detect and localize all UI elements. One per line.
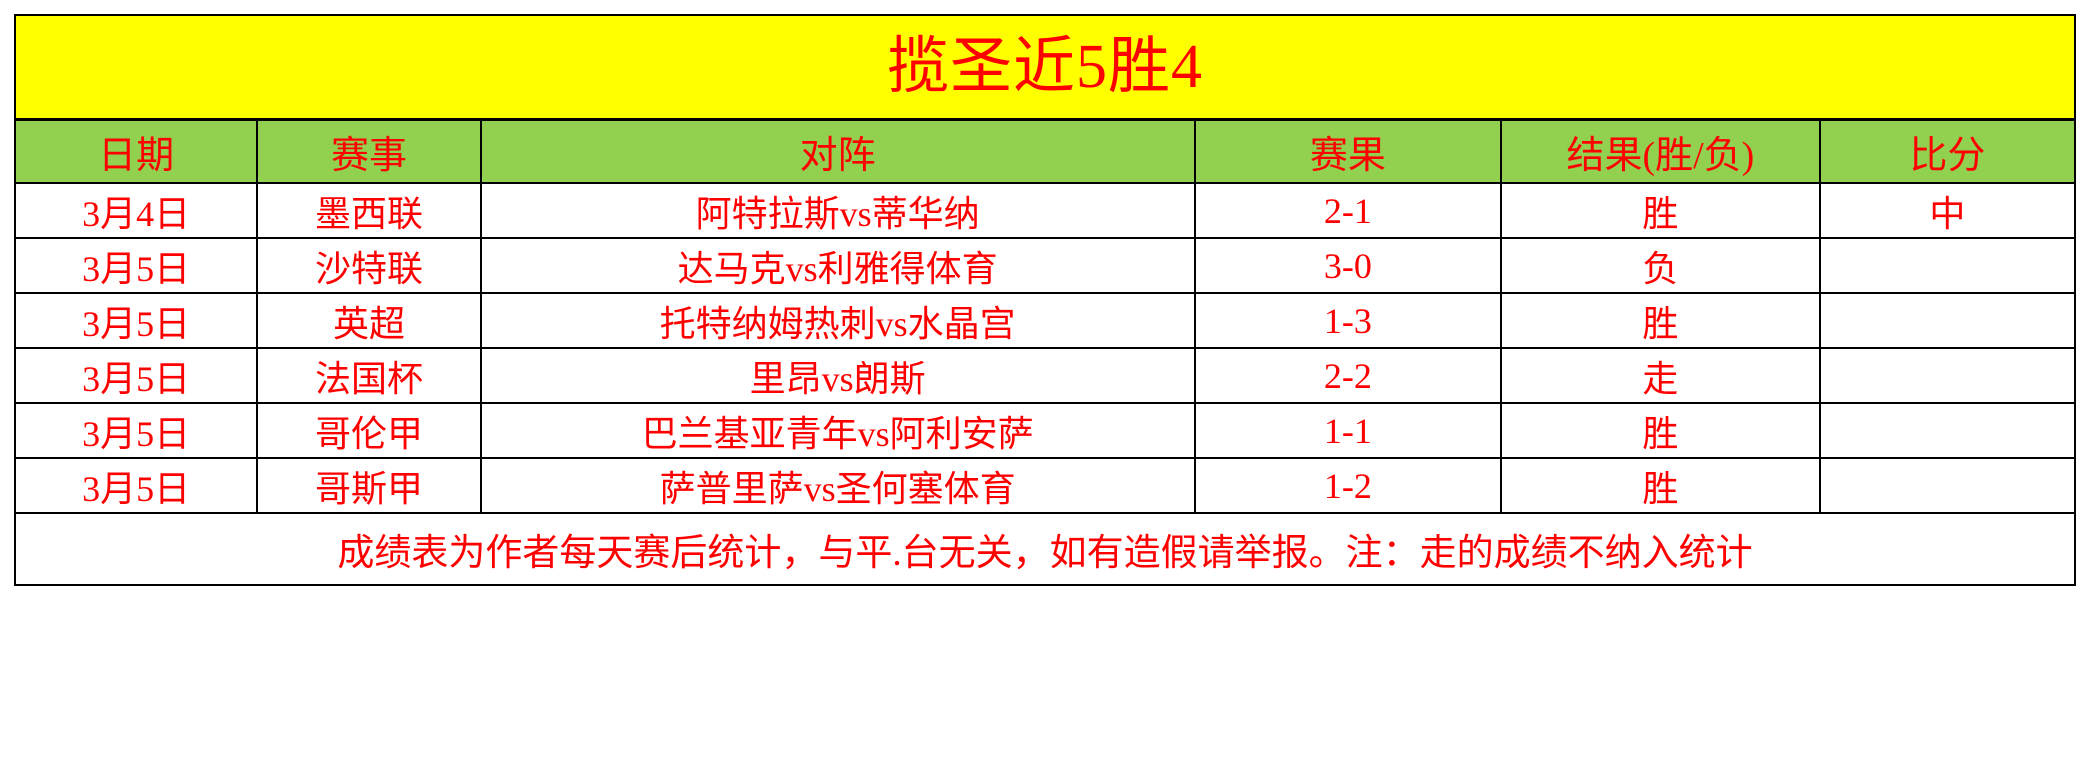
page-title: 揽圣近5胜4 <box>15 15 2075 119</box>
table-row: 3月5日 哥伦甲 巴兰基亚青年vs阿利安萨 1-1 胜 <box>15 403 2075 458</box>
cell-date: 3月4日 <box>15 183 257 238</box>
cell-match: 托特纳姆热刺vs水晶宫 <box>481 293 1195 348</box>
cell-score: 1-2 <box>1195 458 1501 513</box>
cell-match: 阿特拉斯vs蒂华纳 <box>481 183 1195 238</box>
cell-date: 3月5日 <box>15 348 257 403</box>
column-header-row: 日期 赛事 对阵 赛果 结果(胜/负) 比分 <box>15 119 2075 183</box>
cell-league: 法国杯 <box>257 348 480 403</box>
footer-note: 成绩表为作者每天赛后统计，与平.台无关，如有造假请举报。注：走的成绩不纳入统计 <box>15 513 2075 585</box>
status-badge-result: 胜 <box>1501 293 1820 348</box>
cell-handicap <box>1820 293 2075 348</box>
column-header-result: 结果(胜/负) <box>1501 119 1820 183</box>
cell-score: 1-3 <box>1195 293 1501 348</box>
status-badge-result: 胜 <box>1501 403 1820 458</box>
cell-score: 3-0 <box>1195 238 1501 293</box>
cell-match: 里昂vs朗斯 <box>481 348 1195 403</box>
cell-handicap <box>1820 238 2075 293</box>
cell-handicap <box>1820 458 2075 513</box>
cell-handicap <box>1820 348 2075 403</box>
cell-league: 英超 <box>257 293 480 348</box>
status-badge-result: 胜 <box>1501 183 1820 238</box>
cell-league: 沙特联 <box>257 238 480 293</box>
cell-date: 3月5日 <box>15 403 257 458</box>
table-body: 揽圣近5胜4 日期 赛事 对阵 赛果 结果(胜/负) 比分 3月4日 墨西联 阿… <box>15 15 2075 585</box>
cell-date: 3月5日 <box>15 293 257 348</box>
cell-date: 3月5日 <box>15 238 257 293</box>
footer-note-row: 成绩表为作者每天赛后统计，与平.台无关，如有造假请举报。注：走的成绩不纳入统计 <box>15 513 2075 585</box>
status-badge-result: 走 <box>1501 348 1820 403</box>
table-row: 3月5日 法国杯 里昂vs朗斯 2-2 走 <box>15 348 2075 403</box>
cell-handicap <box>1820 403 2075 458</box>
table-row: 3月4日 墨西联 阿特拉斯vs蒂华纳 2-1 胜 中 <box>15 183 2075 238</box>
cell-league: 墨西联 <box>257 183 480 238</box>
cell-date: 3月5日 <box>15 458 257 513</box>
title-banner-row: 揽圣近5胜4 <box>15 15 2075 119</box>
column-header-league: 赛事 <box>257 119 480 183</box>
table-row: 3月5日 哥斯甲 萨普里萨vs圣何塞体育 1-2 胜 <box>15 458 2075 513</box>
cell-handicap: 中 <box>1820 183 2075 238</box>
cell-league: 哥斯甲 <box>257 458 480 513</box>
column-header-score: 赛果 <box>1195 119 1501 183</box>
table-row: 3月5日 沙特联 达马克vs利雅得体育 3-0 负 <box>15 238 2075 293</box>
table-row: 3月5日 英超 托特纳姆热刺vs水晶宫 1-3 胜 <box>15 293 2075 348</box>
column-header-handicap: 比分 <box>1820 119 2075 183</box>
cell-score: 2-1 <box>1195 183 1501 238</box>
status-badge-result: 负 <box>1501 238 1820 293</box>
results-sheet: 揽圣近5胜4 日期 赛事 对阵 赛果 结果(胜/负) 比分 3月4日 墨西联 阿… <box>0 0 2088 758</box>
cell-league: 哥伦甲 <box>257 403 480 458</box>
status-badge-result: 胜 <box>1501 458 1820 513</box>
match-results-table: 揽圣近5胜4 日期 赛事 对阵 赛果 结果(胜/负) 比分 3月4日 墨西联 阿… <box>14 14 2076 586</box>
cell-score: 1-1 <box>1195 403 1501 458</box>
cell-match: 巴兰基亚青年vs阿利安萨 <box>481 403 1195 458</box>
column-header-date: 日期 <box>15 119 257 183</box>
column-header-match: 对阵 <box>481 119 1195 183</box>
cell-match: 萨普里萨vs圣何塞体育 <box>481 458 1195 513</box>
cell-match: 达马克vs利雅得体育 <box>481 238 1195 293</box>
cell-score: 2-2 <box>1195 348 1501 403</box>
